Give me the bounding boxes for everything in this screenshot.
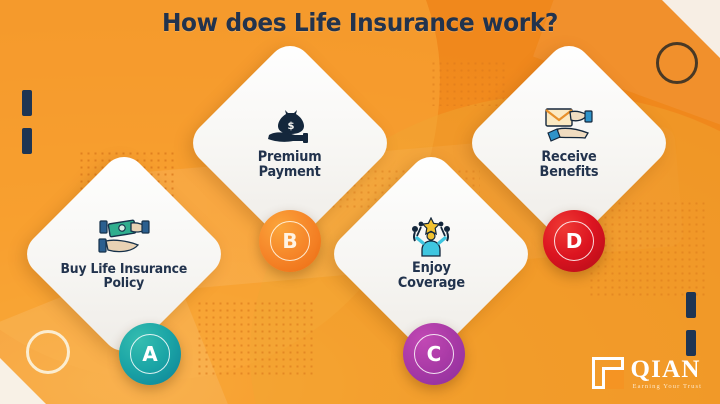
step-badge-a-letter: A: [142, 344, 157, 364]
halftone-dots-bottom-left: [196, 300, 316, 378]
step-badge-a-ring: A: [130, 334, 170, 374]
infographic-canvas: How does Life Insurance work? Buy Life I…: [0, 0, 720, 404]
hands-exchanging-money-icon: [96, 218, 152, 258]
square-bracket-logo-icon: [592, 357, 624, 389]
step-card-d-label: Receive Benefits: [540, 150, 599, 179]
step-badge-a[interactable]: A: [119, 323, 181, 385]
decorative-ring-top-right: [656, 42, 698, 84]
brand-tagline: Earning Your Trust: [633, 384, 702, 391]
step-card-c[interactable]: Enjoy Coverage: [356, 179, 506, 329]
step-badge-d-letter: D: [566, 231, 583, 251]
step-card-a-content: Buy Life Insurance Policy: [49, 179, 199, 329]
accent-bar-left-top: [22, 90, 32, 116]
accent-bar-right-bottom: [686, 330, 696, 356]
money-bag-on-hand-icon: $: [262, 106, 318, 146]
brand-name: QIAN: [631, 357, 702, 382]
brand-logo-text: QIAN Earning Your Trust: [631, 357, 702, 391]
step-card-b[interactable]: $ Premium Payment: [215, 68, 365, 218]
step-card-c-content: Enjoy Coverage: [356, 179, 506, 329]
svg-text:$: $: [288, 121, 295, 132]
accent-bar-right-top: [686, 292, 696, 318]
envelope-on-hand-icon: [541, 106, 597, 146]
step-badge-b[interactable]: B: [259, 210, 321, 272]
step-badge-c-ring: C: [414, 334, 454, 374]
step-card-c-label: Enjoy Coverage: [398, 261, 465, 290]
decorative-ring-bottom-left: [26, 330, 70, 374]
step-card-b-label: Premium Payment: [258, 150, 322, 179]
step-card-a-label: Buy Life Insurance Policy: [61, 262, 188, 290]
brand-logo[interactable]: QIAN Earning Your Trust: [592, 357, 702, 391]
step-badge-c-letter: C: [427, 344, 442, 364]
step-card-a[interactable]: Buy Life Insurance Policy: [49, 179, 199, 329]
step-badge-b-letter: B: [282, 231, 297, 251]
step-badge-c[interactable]: C: [403, 323, 465, 385]
step-card-d-content: Receive Benefits: [494, 68, 644, 218]
step-card-b-content: $ Premium Payment: [215, 68, 365, 218]
step-card-d[interactable]: Receive Benefits: [494, 68, 644, 218]
celebrating-person-star-icon: [403, 217, 459, 257]
step-badge-b-ring: B: [270, 221, 310, 261]
step-badge-d[interactable]: D: [543, 210, 605, 272]
accent-bar-left-bottom: [22, 128, 32, 154]
page-title: How does Life Insurance work?: [25, 8, 695, 37]
step-badge-d-ring: D: [554, 221, 594, 261]
